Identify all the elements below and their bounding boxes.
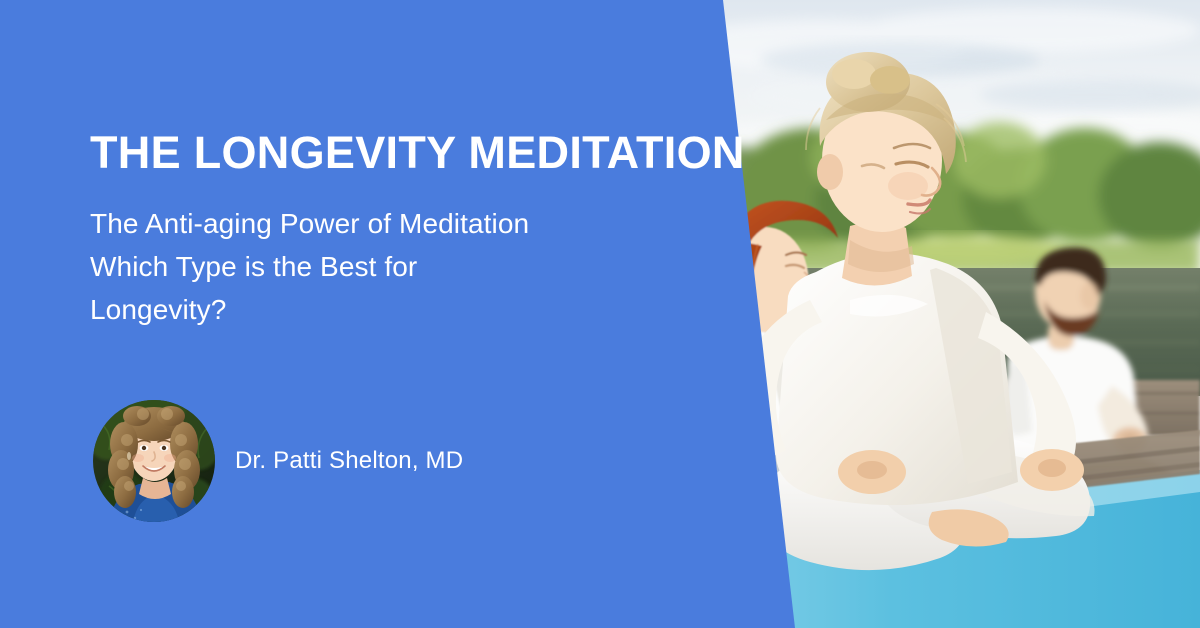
- banner-canvas: THE LONGEVITY MEDITATION The Anti-aging …: [0, 0, 1200, 628]
- author-byline: Dr. Patti Shelton, MD: [93, 400, 693, 524]
- avatar: [93, 400, 215, 522]
- banner-content: THE LONGEVITY MEDITATION The Anti-aging …: [0, 0, 760, 628]
- subtitle-line-1: The Anti-aging Power of Meditation: [90, 202, 690, 245]
- subtitle-line-3: Longevity?: [90, 288, 690, 331]
- page-title: THE LONGEVITY MEDITATION: [90, 130, 745, 175]
- subtitle-line-2: Which Type is the Best for: [90, 245, 690, 288]
- author-name: Dr. Patti Shelton, MD: [235, 400, 463, 522]
- page-subtitle: The Anti-aging Power of Meditation Which…: [90, 202, 690, 331]
